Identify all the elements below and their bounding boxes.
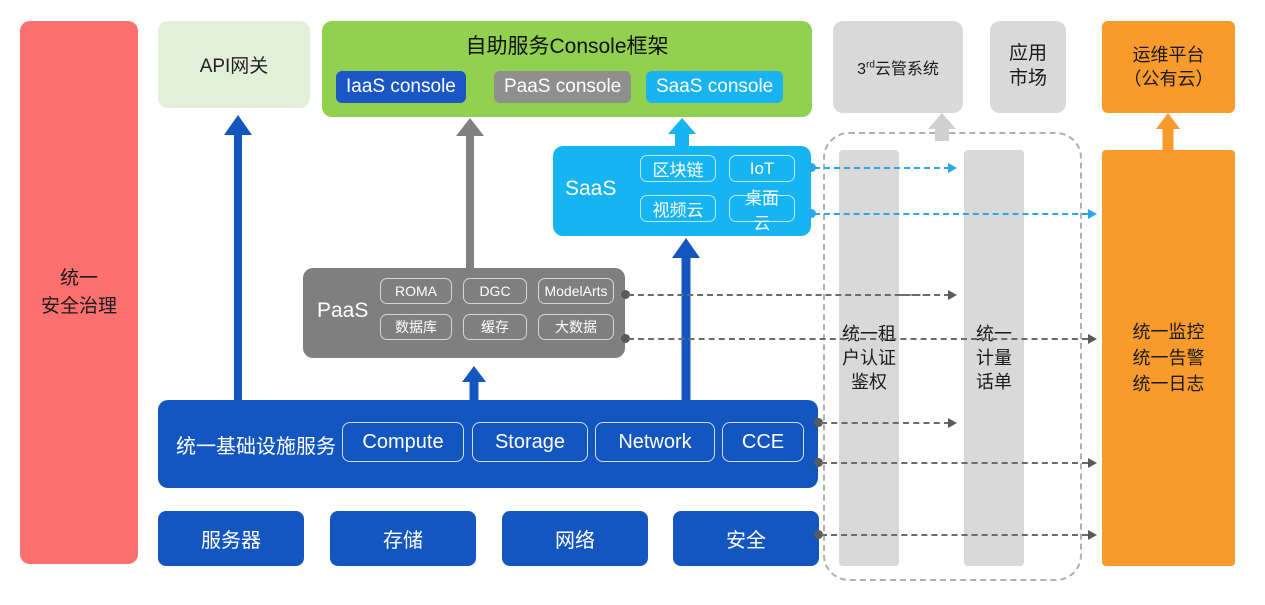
- ops-platform-label: 运维平台 （公有云）: [1124, 43, 1214, 92]
- arrow-monitoring-to-ops-platform: [1155, 113, 1181, 151]
- unified-monitoring-column: 统一监控 统一告警 统一日志: [1102, 150, 1235, 566]
- dashed-line-auth-to-metering: [900, 294, 940, 296]
- arrow-infra-to-paas: [462, 366, 486, 400]
- ops-platform-box: 运维平台 （公有云）: [1102, 21, 1235, 113]
- saas-block: SaaS 区块链 IoT 视频云 桌面云: [553, 146, 811, 236]
- paas-label: PaaS: [317, 299, 368, 323]
- security-governance-column: 统一 安全治理: [20, 21, 138, 564]
- paas-chip-dgc[interactable]: DGC: [463, 278, 527, 304]
- arrowhead-resources-to-monitoring: [1088, 530, 1097, 540]
- paas-console-chip[interactable]: PaaS console: [494, 71, 631, 103]
- paas-chip-database[interactable]: 数据库: [380, 314, 452, 340]
- unified-tenant-auth-label: 统一租 户认证 鉴权: [842, 322, 896, 395]
- superscript-rd: rd: [866, 60, 875, 71]
- infra-chip-storage[interactable]: Storage: [472, 422, 588, 462]
- saas-label: SaaS: [565, 177, 616, 201]
- console-framework-title: 自助服务Console框架: [322, 30, 812, 60]
- saas-console-chip[interactable]: SaaS console: [646, 71, 783, 103]
- infra-chip-compute[interactable]: Compute: [342, 422, 464, 462]
- third-party-cloud-mgmt-label: 3rd云管系统: [857, 55, 939, 79]
- saas-chip-desktop-cloud[interactable]: 桌面云: [729, 195, 795, 222]
- unified-monitoring-label: 统一监控 统一告警 统一日志: [1133, 319, 1205, 397]
- architecture-diagram: 统一 安全治理 API网关 自助服务Console框架 IaaS console…: [0, 0, 1265, 605]
- arrowhead-infra-to-metering: [948, 418, 957, 428]
- arrow-shared-to-third-party: [928, 113, 956, 141]
- resource-box-security: 安全: [673, 511, 819, 566]
- infra-chip-cce[interactable]: CCE: [722, 422, 804, 462]
- app-market-box: 应用 市场: [990, 21, 1066, 113]
- arrowhead-infra-to-monitoring: [1088, 458, 1097, 468]
- api-gateway-box: API网关: [158, 21, 310, 108]
- infra-chip-network[interactable]: Network: [595, 422, 715, 462]
- iaas-console-chip[interactable]: IaaS console: [336, 71, 466, 103]
- paas-chip-cache[interactable]: 缓存: [463, 314, 527, 340]
- saas-chip-blockchain[interactable]: 区块链: [640, 155, 716, 182]
- dashed-line-saas-to-metering: [814, 167, 950, 169]
- console-framework-box: 自助服务Console框架 IaaS console PaaS console …: [322, 21, 812, 117]
- paas-block: PaaS ROMA DGC ModelArts 数据库 缓存 大数据: [303, 268, 625, 358]
- unified-metering-label: 统一 计量 话单: [976, 322, 1012, 395]
- paas-chip-bigdata[interactable]: 大数据: [538, 314, 614, 340]
- dashed-line-infra-to-monitoring: [821, 462, 1088, 464]
- arrowhead-paas-to-metering: [948, 290, 957, 300]
- paas-chip-modelarts[interactable]: ModelArts: [538, 278, 614, 304]
- api-gateway-label: API网关: [200, 51, 269, 78]
- dashed-line-paas-to-monitoring: [628, 338, 1088, 340]
- dashed-line-resources-to-monitoring: [821, 534, 1088, 536]
- saas-chip-iot[interactable]: IoT: [729, 155, 795, 182]
- saas-chip-video-cloud[interactable]: 视频云: [640, 195, 716, 222]
- arrow-saas-to-console: [668, 118, 696, 146]
- third-party-cloud-mgmt-box: 3rd云管系统: [833, 21, 963, 113]
- unified-infrastructure-bar: 统一基础设施服务 Compute Storage Network CCE: [158, 400, 818, 488]
- paas-chip-roma[interactable]: ROMA: [380, 278, 452, 304]
- unified-infrastructure-label: 统一基础设施服务: [176, 430, 336, 459]
- arrow-paas-to-console: [456, 118, 484, 268]
- resource-box-network: 网络: [502, 511, 648, 566]
- arrowhead-paas-to-monitoring: [1088, 334, 1097, 344]
- resource-box-server: 服务器: [158, 511, 304, 566]
- app-market-label: 应用 市场: [1009, 42, 1047, 91]
- security-governance-label: 统一 安全治理: [41, 265, 117, 320]
- arrow-infra-to-api-gateway: [224, 115, 252, 400]
- arrow-infra-to-saas: [672, 238, 700, 400]
- dashed-line-saas-to-monitoring: [814, 213, 1088, 215]
- arrowhead-saas-to-metering: [948, 163, 957, 173]
- dashed-line-infra-to-metering: [821, 422, 950, 424]
- arrowhead-saas-to-monitoring: [1088, 209, 1097, 219]
- resource-box-storage: 存储: [330, 511, 476, 566]
